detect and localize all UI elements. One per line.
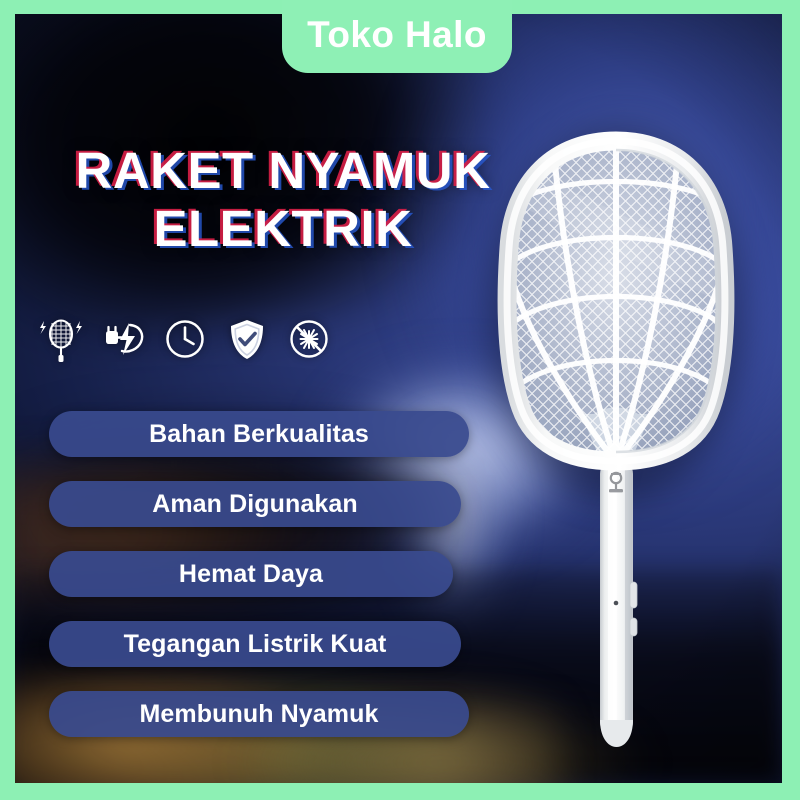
brand-badge: Toko Halo — [282, 0, 512, 73]
plug-bolt-icon — [97, 313, 149, 365]
feature-pill-list: Bahan Berkualitas Aman Digunakan Hemat D… — [49, 411, 469, 761]
clock-icon — [159, 313, 211, 365]
feature-icon-row — [35, 308, 335, 370]
product-photo: RAKET NYAMUK ELEKTRIK — [15, 14, 782, 783]
racket-spark-icon — [35, 313, 87, 365]
feature-pill: Bahan Berkualitas — [49, 411, 469, 457]
feature-pill: Tegangan Listrik Kuat — [49, 621, 461, 667]
feature-pill-label: Bahan Berkualitas — [149, 422, 369, 447]
feature-pill-label: Aman Digunakan — [152, 492, 358, 517]
brand-name: Toko Halo — [307, 16, 487, 57]
shield-check-icon — [221, 313, 273, 365]
no-mosquito-icon — [283, 313, 335, 365]
feature-pill-label: Hemat Daya — [179, 562, 323, 587]
feature-pill: Hemat Daya — [49, 551, 453, 597]
feature-pill-label: Membunuh Nyamuk — [139, 702, 378, 727]
advertisement-frame: RAKET NYAMUK ELEKTRIK — [0, 0, 800, 800]
feature-pill-label: Tegangan Listrik Kuat — [124, 632, 387, 657]
feature-pill: Aman Digunakan — [49, 481, 461, 527]
feature-pill: Membunuh Nyamuk — [49, 691, 469, 737]
